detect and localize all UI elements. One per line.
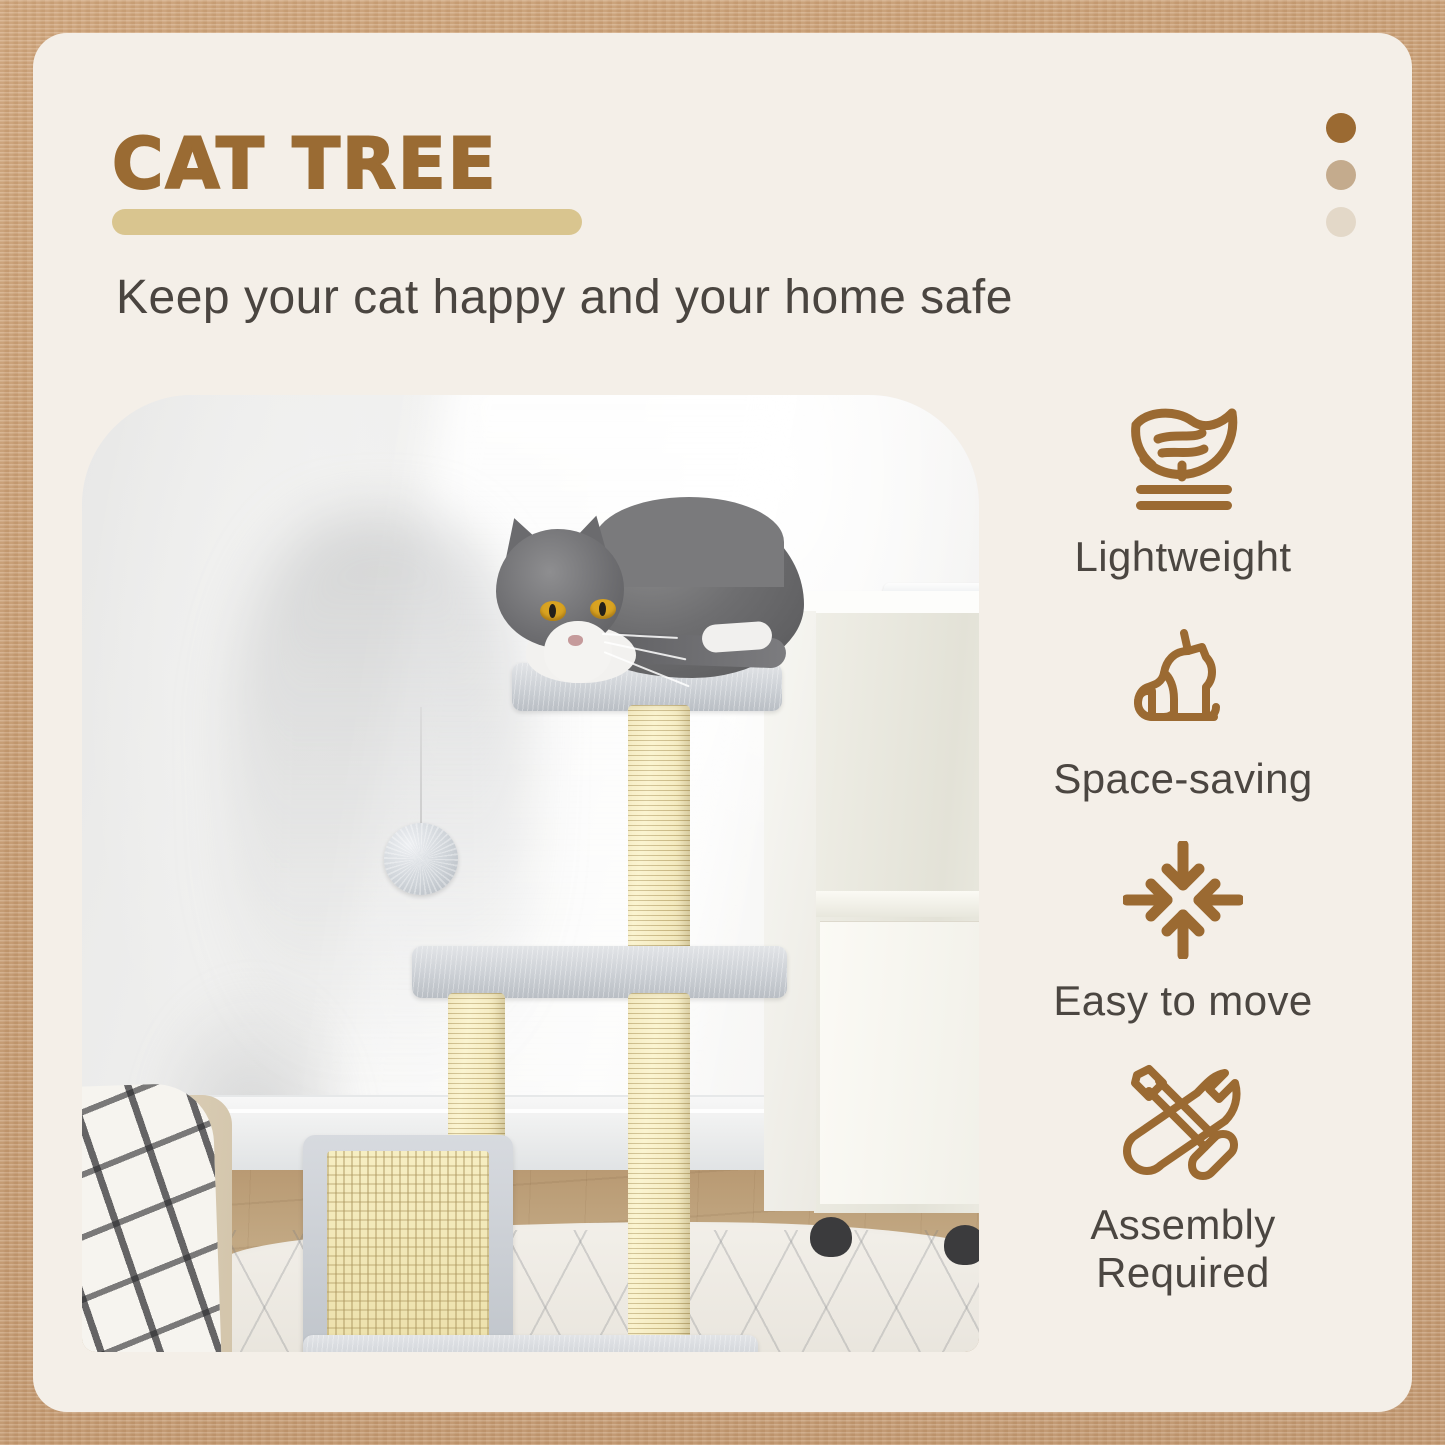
top-sisal-post <box>628 705 690 959</box>
sisal-ramp-mat <box>327 1151 489 1352</box>
middle-platform <box>412 946 787 998</box>
decorative-dots <box>1326 113 1372 254</box>
feature-label: Space-saving <box>1053 755 1312 803</box>
title-block: CAT TREE <box>112 129 498 199</box>
cabinet-caster <box>944 1225 979 1265</box>
feature-label: Lightweight <box>1075 533 1292 581</box>
feature-lightweight: Lightweight <box>988 403 1378 581</box>
cat-back <box>594 497 784 587</box>
dot-light <box>1326 207 1356 237</box>
plaid-blanket <box>82 1082 222 1352</box>
cat-muzzle <box>544 621 612 683</box>
pom-pom-ball <box>384 823 458 895</box>
cat-white-patch <box>701 621 773 654</box>
cat-eye-right <box>590 599 616 619</box>
product-photo <box>82 395 979 1352</box>
poster-root: CAT TREE Keep your cat happy and your ho… <box>0 0 1445 1445</box>
left-sisal-post <box>448 993 505 1145</box>
dot-dark <box>1326 113 1356 143</box>
cabinet-caster <box>810 1217 852 1257</box>
feather-icon <box>1118 403 1248 519</box>
cabinet-door <box>820 921 979 1204</box>
cat-eye-left <box>540 601 566 621</box>
page-subtitle: Keep your cat happy and your home safe <box>116 270 1013 325</box>
converging-arrows-icon <box>1123 841 1243 963</box>
page-title: CAT TREE <box>112 129 498 199</box>
feature-label: Easy to move <box>1053 977 1312 1025</box>
feature-easy-to-move: Easy to move <box>988 841 1378 1025</box>
cabinet-shelf <box>816 891 979 917</box>
plush-base-board <box>303 1335 758 1352</box>
cat-nose <box>568 635 583 646</box>
feature-label: AssemblyRequired <box>1090 1201 1275 1297</box>
wrench-screwdriver-icon <box>1119 1061 1247 1187</box>
feature-space-saving: Space-saving <box>988 625 1378 803</box>
dot-mid <box>1326 160 1356 190</box>
scratching-ramp <box>303 1135 513 1352</box>
content-card: CAT TREE Keep your cat happy and your ho… <box>33 33 1412 1412</box>
toy-string <box>420 707 422 827</box>
cat-head <box>496 529 624 649</box>
right-sisal-post <box>628 993 690 1343</box>
cat <box>474 495 804 690</box>
feature-list: Lightweight Space-saving <box>988 403 1378 1296</box>
title-underline <box>112 209 582 235</box>
sitting-cat-icon <box>1118 625 1248 741</box>
feature-assembly-required: AssemblyRequired <box>988 1061 1378 1297</box>
